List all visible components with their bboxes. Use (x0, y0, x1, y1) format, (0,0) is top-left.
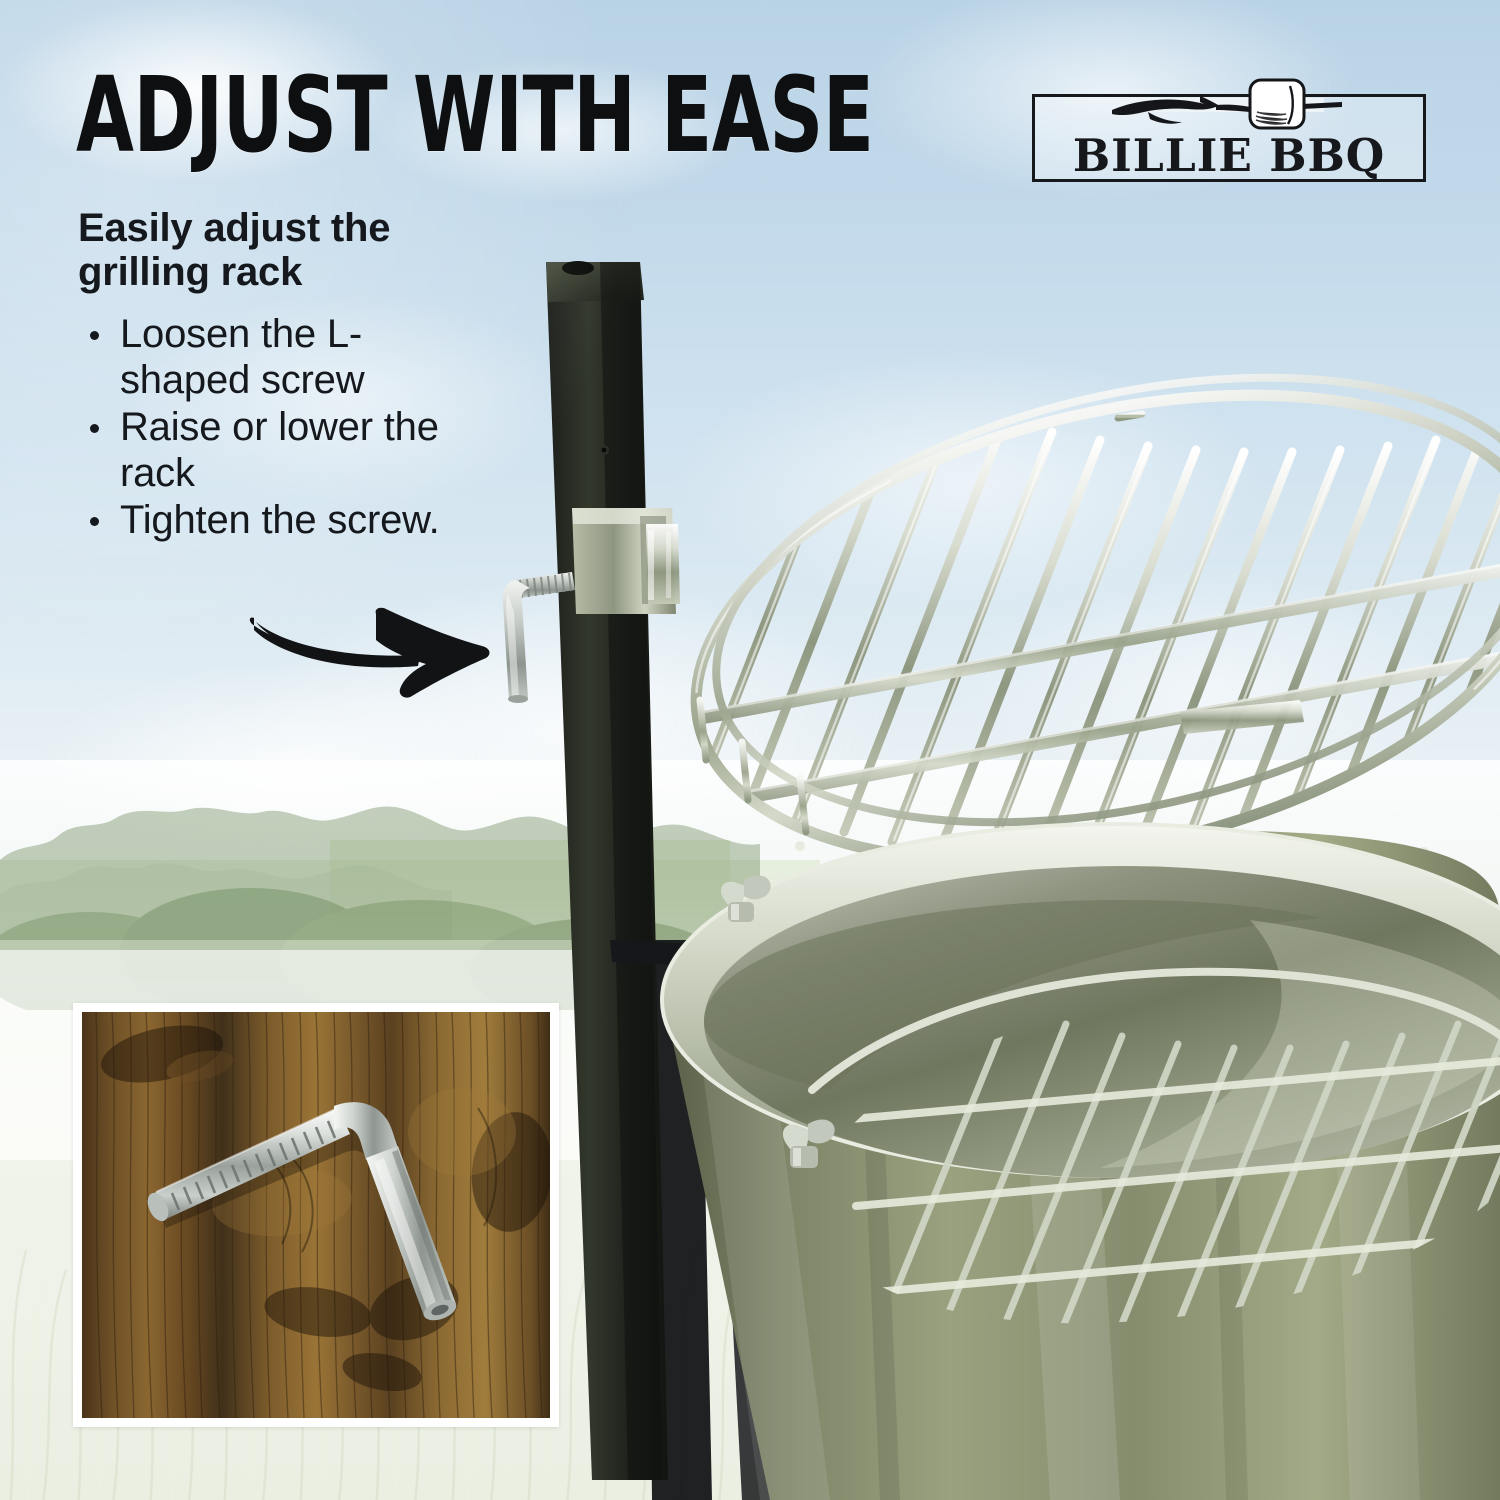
subtitle: Easily adjust the grilling rack (78, 206, 458, 294)
list-item-label: Tighten the screw. (120, 498, 440, 542)
brand-logo: BILLIE BBQ (1032, 94, 1426, 182)
marshmallow-on-stick-icon (1104, 74, 1354, 136)
brush-arrow-right-icon (248, 596, 528, 701)
inset-photo-frame (73, 1003, 559, 1427)
list-item: Tighten the screw. (78, 498, 478, 544)
l-shaped-screw-icon (82, 1012, 550, 1418)
list-item: Loosen the L-shaped screw (78, 312, 478, 403)
list-item-label: Raise or lower the rack (120, 405, 439, 495)
brand-name: BILLIE BBQ (1036, 133, 1422, 178)
page-title: ADJUST WITH EASE (76, 66, 874, 166)
inset-photo (82, 1012, 550, 1418)
list-item: Raise or lower the rack (78, 405, 478, 496)
product-infographic: ADJUST WITH EASE Easily adjust the grill… (0, 0, 1500, 1500)
list-item-label: Loosen the L-shaped screw (120, 312, 364, 402)
instruction-list: Loosen the L-shaped screw Raise or lower… (78, 312, 478, 546)
